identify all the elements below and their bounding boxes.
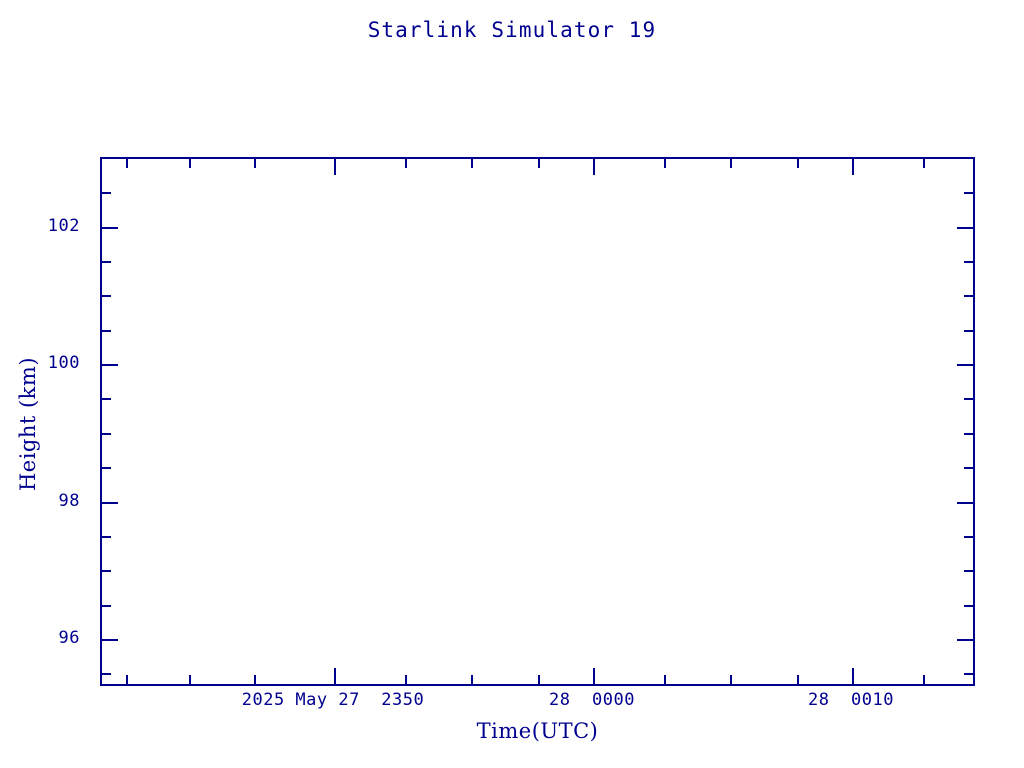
x-axis-tick-bottom-3 (334, 668, 336, 684)
x-axis-tick-top-8 (664, 159, 666, 168)
x-axis-tick-bottom-12 (923, 675, 925, 684)
page-title: Starlink Simulator 19 (0, 18, 1024, 42)
y-axis-tick-right-7 (964, 467, 973, 469)
x-axis-tick-bottom-8 (664, 675, 666, 684)
y-axis-tick-right-10 (964, 570, 973, 572)
y-axis-tick-right-13 (964, 673, 973, 675)
y-axis-tick-left-8 (102, 502, 118, 504)
x-tick-label-11: 28 0010 (808, 690, 894, 710)
plot-area[interactable] (100, 157, 975, 686)
x-axis-tick-top-0 (126, 159, 128, 168)
y-axis-tick-left-14 (102, 192, 111, 194)
y-axis-tick-left-10 (102, 570, 111, 572)
y-axis-tick-left-0 (102, 227, 118, 229)
y-axis-tick-right-12 (957, 639, 973, 641)
x-axis-tick-labels: 2025 May 27 235028 000028 0010 (100, 690, 975, 716)
x-axis-tick-bottom-0 (126, 675, 128, 684)
x-axis-tick-top-5 (471, 159, 473, 168)
y-axis-tick-left-9 (102, 536, 111, 538)
y-axis-tick-left-3 (102, 330, 111, 332)
x-axis-tick-bottom-10 (797, 675, 799, 684)
x-axis-tick-top-6 (538, 159, 540, 168)
y-axis-tick-right-0 (957, 227, 973, 229)
y-axis-tick-right-2 (964, 295, 973, 297)
x-axis-tick-top-10 (797, 159, 799, 168)
y-axis-tick-right-14 (964, 192, 973, 194)
x-axis-tick-top-11 (852, 159, 854, 175)
x-axis-tick-bottom-2 (254, 675, 256, 684)
x-axis-tick-bottom-9 (730, 675, 732, 684)
figure-canvas: Starlink Simulator 19 1021009896 2025 Ma… (0, 0, 1024, 768)
x-axis-tick-bottom-7 (593, 668, 595, 684)
y-axis-tick-right-5 (964, 398, 973, 400)
y-axis-tick-right-8 (957, 502, 973, 504)
y-axis-tick-right-4 (957, 364, 973, 366)
x-axis-tick-top-7 (593, 159, 595, 175)
x-axis-tick-top-12 (923, 159, 925, 168)
y-tick-label-100: 100 (48, 353, 80, 373)
y-axis-tick-left-13 (102, 673, 111, 675)
y-axis-tick-left-2 (102, 295, 111, 297)
plot-data-canvas (102, 159, 973, 684)
x-axis-tick-top-2 (254, 159, 256, 168)
x-axis-tick-bottom-4 (405, 675, 407, 684)
x-axis-tick-bottom-11 (852, 668, 854, 684)
y-axis-tick-left-11 (102, 605, 111, 607)
y-axis-tick-left-12 (102, 639, 118, 641)
y-axis-tick-right-9 (964, 536, 973, 538)
x-axis-title: Time(UTC) (100, 719, 975, 743)
x-axis-tick-top-3 (334, 159, 336, 175)
y-axis-tick-left-7 (102, 467, 111, 469)
x-tick-label-7: 28 0000 (549, 690, 635, 710)
y-axis-tick-left-6 (102, 433, 111, 435)
x-axis-tick-bottom-5 (471, 675, 473, 684)
y-axis-tick-left-4 (102, 364, 118, 366)
y-axis-tick-labels: 1021009896 (0, 157, 88, 686)
y-axis-tick-right-11 (964, 605, 973, 607)
x-tick-label-3: 2025 May 27 2350 (242, 690, 425, 710)
y-tick-label-98: 98 (59, 491, 80, 511)
x-axis-tick-top-4 (405, 159, 407, 168)
y-axis-title: Height (km) (16, 159, 40, 689)
y-tick-label-102: 102 (48, 216, 80, 236)
y-tick-label-96: 96 (59, 628, 80, 648)
y-axis-tick-right-1 (964, 261, 973, 263)
y-axis-tick-right-6 (964, 433, 973, 435)
x-axis-tick-bottom-1 (189, 675, 191, 684)
y-axis-tick-left-1 (102, 261, 111, 263)
x-axis-tick-top-1 (189, 159, 191, 168)
y-axis-tick-left-5 (102, 398, 111, 400)
x-axis-tick-bottom-6 (538, 675, 540, 684)
x-axis-tick-top-9 (730, 159, 732, 168)
y-axis-tick-right-3 (964, 330, 973, 332)
